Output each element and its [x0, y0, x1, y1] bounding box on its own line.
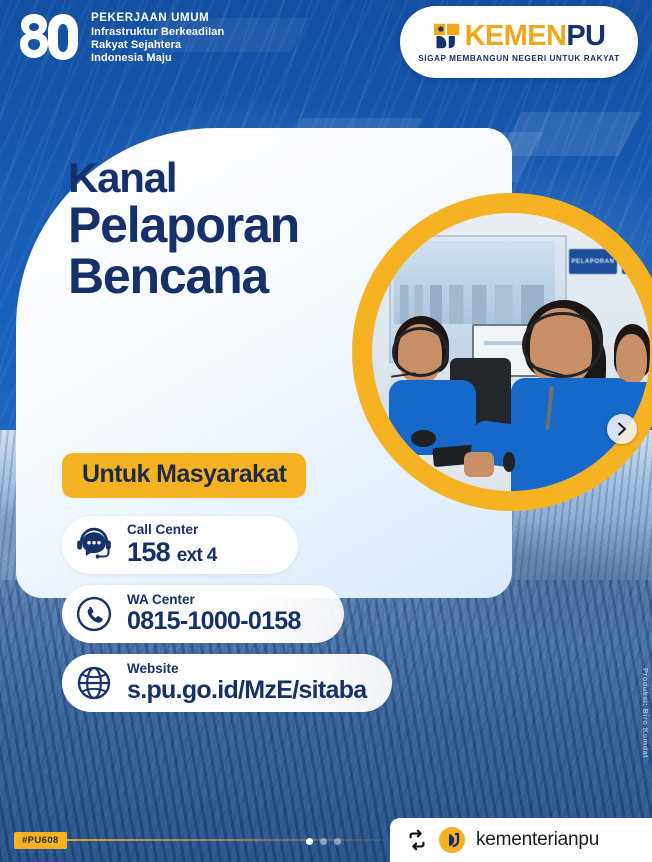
headline-line-1: Kanal — [68, 156, 468, 200]
carousel-next-button[interactable] — [607, 414, 637, 444]
globe-icon — [74, 663, 114, 703]
carousel-dot-3[interactable] — [334, 838, 341, 845]
photo-sign-pelaporan: PELAPORAN — [569, 249, 616, 274]
contact-wa-center[interactable]: WA Center 0815-1000-0158 — [62, 585, 344, 643]
call-center-ext: ext 4 — [177, 545, 217, 566]
account-bar[interactable]: kementerianpu — [390, 818, 652, 862]
account-username[interactable]: kementerianpu — [476, 829, 599, 851]
photo-agent-front — [511, 296, 650, 491]
kemenpu-tagline: SIGAP MEMBANGUN NEGERI UNTUK RAKYAT — [418, 54, 620, 63]
wa-center-text: WA Center 0815-1000-0158 — [127, 593, 301, 634]
anniversary-80-logo — [18, 12, 80, 64]
poster-canvas: PEKERJAAN UMUM Infrastruktur Berkeadilan… — [0, 0, 652, 862]
pu-avatar-icon — [443, 831, 461, 849]
website-text: Website s.pu.go.id/MzE/sitaba — [127, 662, 367, 703]
audience-badge: Untuk Masyarakat — [62, 453, 306, 498]
ministry-header: PEKERJAAN UMUM Infrastruktur Berkeadilan… — [18, 12, 224, 64]
ministry-tagline-2: Rakyat Sejahtera — [91, 39, 224, 52]
kemenpu-wordmark-row: KEMENPU — [433, 22, 606, 51]
ministry-text-block: PEKERJAAN UMUM Infrastruktur Berkeadilan… — [91, 12, 224, 64]
callcenter-photo: PELAPORAN PA — [372, 213, 650, 491]
kemenpu-wordmark: KEMENPU — [465, 22, 606, 51]
footer-bar: #PU608 kementerianpu — [0, 816, 652, 862]
production-credit: Produksi: Biro Komdat — [641, 668, 650, 758]
carousel-dot-2[interactable] — [320, 838, 327, 845]
contact-website[interactable]: Website s.pu.go.id/MzE/sitaba — [62, 654, 392, 712]
ministry-tagline-1: Infrastruktur Berkeadilan — [91, 26, 224, 39]
carousel-dots[interactable] — [306, 838, 341, 845]
headset-chat-icon — [74, 525, 114, 565]
contact-list: Call Center 158 ext 4 WA Center 0815-100… — [62, 516, 502, 723]
contact-label: WA Center — [127, 593, 301, 608]
phone-circle-icon — [74, 594, 114, 634]
ministry-tagline-3: Indonesia Maju — [91, 52, 224, 65]
contact-call-center[interactable]: Call Center 158 ext 4 — [62, 516, 298, 574]
pu-mark-icon — [433, 22, 461, 50]
photo-mouse — [411, 430, 436, 447]
repost-icon[interactable] — [406, 829, 428, 851]
contact-label: Website — [127, 662, 367, 677]
ministry-name: PEKERJAAN UMUM — [91, 12, 224, 26]
kemen-word-part: KEMEN — [465, 20, 567, 52]
bg-shape — [498, 112, 641, 156]
carousel-dot-1[interactable] — [306, 838, 313, 845]
avatar[interactable] — [439, 827, 465, 853]
call-center-number: 158 — [127, 537, 170, 567]
pu-word-part: PU — [566, 20, 605, 52]
contact-value: s.pu.go.id/MzE/sitaba — [127, 677, 367, 703]
kemenpu-logo: KEMENPU SIGAP MEMBANGUN NEGERI UNTUK RAK… — [400, 6, 638, 78]
call-center-text: Call Center 158 ext 4 — [127, 523, 217, 566]
photo-sign-secondary: PA — [622, 249, 650, 274]
contact-value: 0815-1000-0158 — [127, 608, 301, 634]
hashtag-badge: #PU608 — [14, 832, 67, 849]
contact-value: 158 ext 4 — [127, 538, 217, 566]
chevron-right-icon — [616, 422, 628, 436]
callcenter-photo-ring: PELAPORAN PA — [352, 193, 652, 511]
contact-label: Call Center — [127, 523, 217, 538]
footer-rule — [18, 839, 408, 841]
photo-agent-back — [389, 316, 484, 455]
